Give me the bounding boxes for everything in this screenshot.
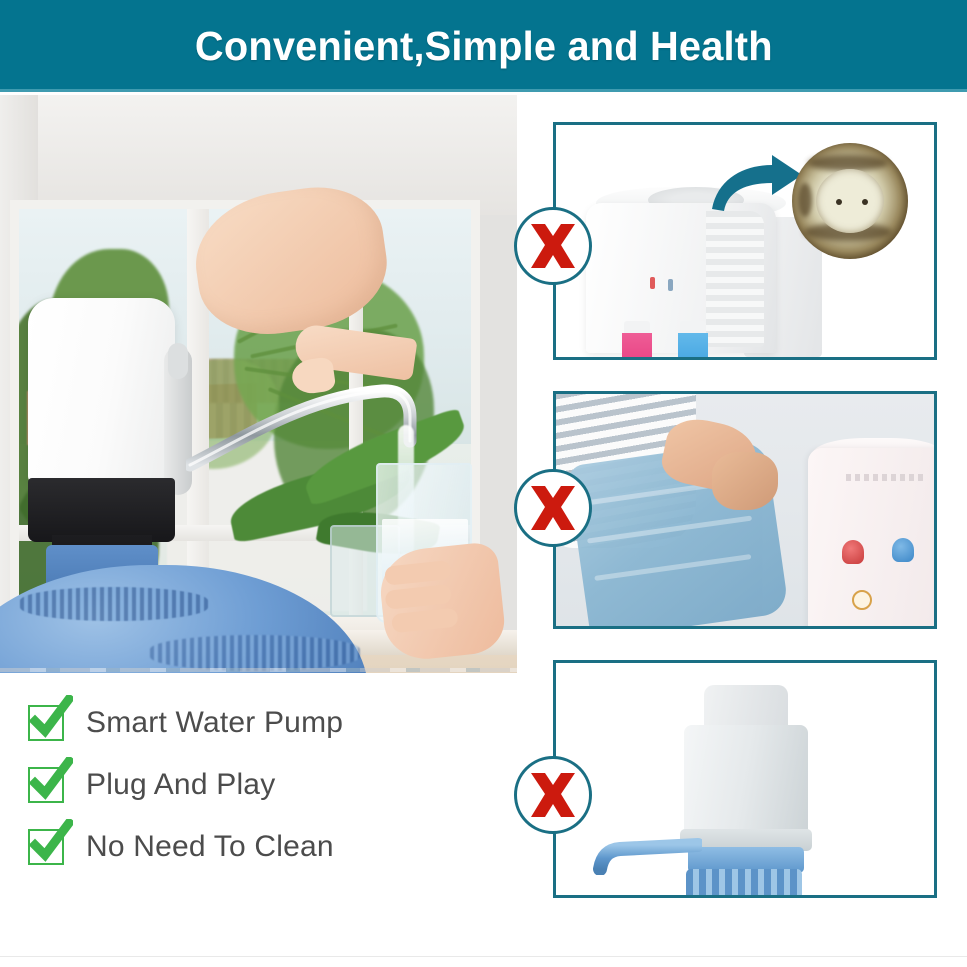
hand-pump-cap-ring: [686, 869, 802, 898]
check-mark-icon: [28, 767, 64, 803]
reservoir-inner-disc: [816, 169, 884, 233]
dispenser-vent-fins: [706, 211, 764, 347]
checklist-item-label: Plug And Play: [86, 768, 275, 802]
pump-side-cap: [168, 343, 188, 379]
tap-hot: [622, 333, 652, 360]
red-x-icon: [514, 469, 592, 547]
checklist-item-label: No Need To Clean: [86, 830, 334, 864]
led-indicator-cold: [668, 279, 673, 291]
cooler-logo: [846, 474, 924, 481]
bottom-divider: [0, 956, 967, 957]
finger: [391, 607, 459, 633]
list-item: No Need To Clean: [28, 824, 498, 870]
jug-ridge: [594, 554, 751, 581]
check-mark-icon: [28, 829, 64, 865]
reservoir-hole: [862, 199, 868, 205]
chrome-spout: [186, 377, 422, 473]
hand-pump-cylinder: [684, 725, 808, 837]
list-item: Plug And Play: [28, 762, 498, 808]
tap-cold: [892, 538, 914, 562]
jug-texture-band: [20, 587, 208, 621]
checklist-item-label: Smart Water Pump: [86, 706, 343, 740]
tap-hot: [842, 540, 864, 564]
header-banner: Convenient,Simple and Health: [0, 0, 967, 92]
hero-product-photo: [0, 95, 517, 673]
red-x-icon: [514, 207, 592, 285]
jug-texture-band: [150, 635, 360, 671]
page-title: Convenient,Simple and Health: [195, 23, 773, 70]
check-mark-icon: [28, 705, 64, 741]
curved-arrow-right-icon: [706, 151, 806, 213]
feature-checklist: Smart Water Pump Plug And Play No Need T…: [28, 700, 498, 886]
dirty-reservoir-closeup: [792, 143, 908, 259]
hand-holding-glass: [377, 541, 508, 663]
list-item: Smart Water Pump: [28, 700, 498, 746]
grime-stain: [798, 183, 812, 217]
hand-gripping-jug: [712, 452, 778, 510]
comparison-panel-manual-pump: [553, 660, 937, 898]
hero-bottom-edge: [0, 668, 517, 672]
warning-label-icon: [852, 590, 872, 610]
reservoir-hole: [836, 199, 842, 205]
pump-base: [28, 478, 175, 542]
led-indicator-hot: [650, 277, 655, 289]
finger: [385, 584, 453, 610]
red-x-icon: [514, 756, 592, 834]
product-infographic: Convenient,Simple and Health: [0, 0, 967, 967]
jug-ridge: [587, 516, 752, 544]
pump-body: [28, 298, 175, 484]
comparison-panel-heavy-lifting: [553, 391, 937, 629]
hand-pump-spout: [590, 833, 702, 875]
comparison-panel-water-cooler: [553, 122, 937, 360]
finger: [384, 560, 452, 586]
tap-cold: [678, 333, 708, 360]
